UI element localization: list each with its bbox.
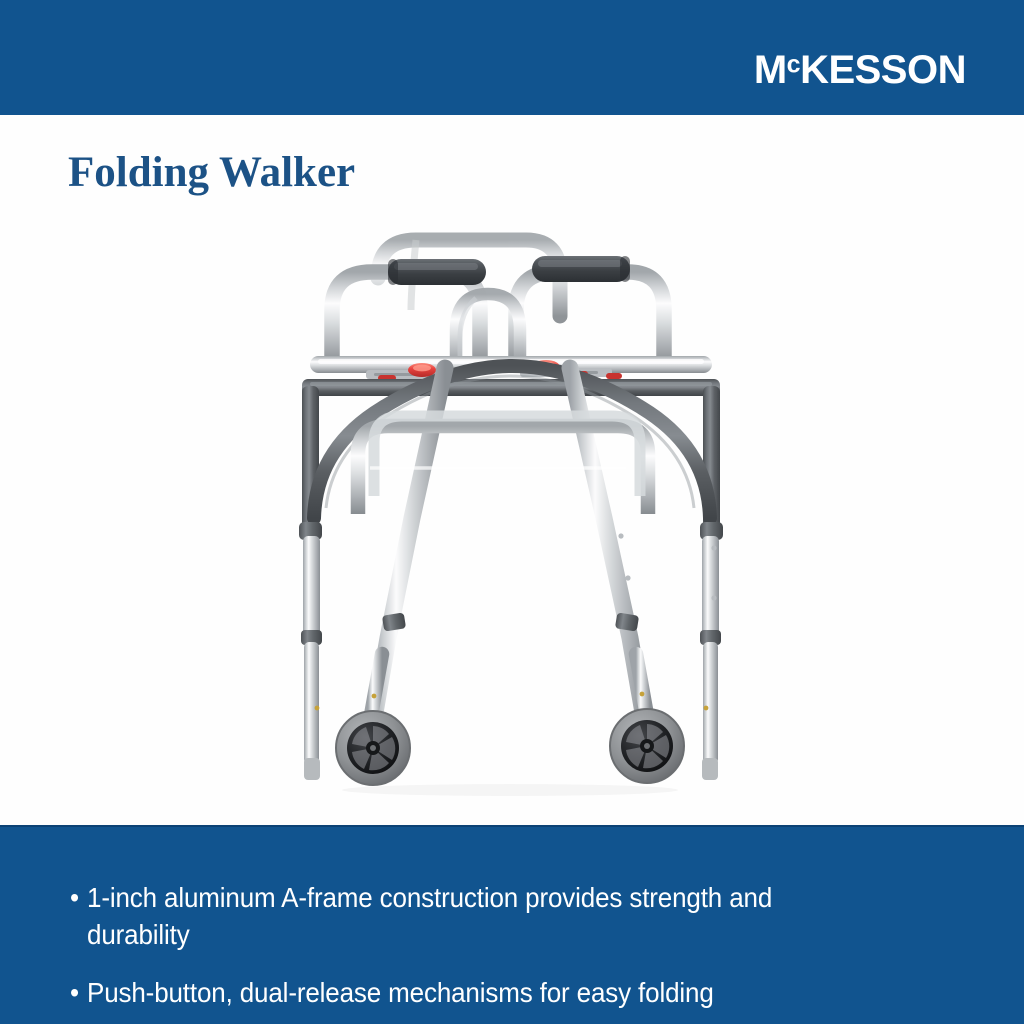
bullet-glyph: • (70, 879, 79, 916)
left-foam-handgrip (388, 259, 486, 285)
right-front-wheel (610, 709, 684, 783)
logo-text-superscript: c (787, 51, 800, 79)
feature-text: 1-inch aluminum A-frame construction pro… (87, 882, 772, 950)
feature-bullet-list: • 1-inch aluminum A-frame construction p… (70, 879, 900, 1011)
ground-shadow (342, 784, 678, 796)
list-item: • 1-inch aluminum A-frame construction p… (70, 879, 854, 953)
left-outer-leg (301, 536, 322, 764)
right-foam-handgrip (532, 256, 630, 282)
header-band: McKESSON (0, 0, 1024, 115)
page-title: Folding Walker (68, 148, 355, 197)
right-upper-bow (516, 272, 664, 364)
footer-band: • 1-inch aluminum A-frame construction p… (0, 825, 1024, 1024)
feature-text: Push-button, dual-release mechanisms for… (87, 977, 714, 1008)
list-item: • Push-button, dual-release mechanisms f… (70, 974, 854, 1011)
logo-text-part2: KESSON (800, 48, 966, 92)
bullet-glyph: • (70, 974, 79, 1011)
left-front-wheel (336, 711, 410, 785)
upper-leg-collars (299, 522, 723, 540)
logo-text-part1: M (754, 48, 787, 92)
mckesson-logo: McKESSON (754, 50, 966, 90)
product-image-folding-walker (270, 218, 750, 808)
right-outer-leg (700, 536, 721, 764)
